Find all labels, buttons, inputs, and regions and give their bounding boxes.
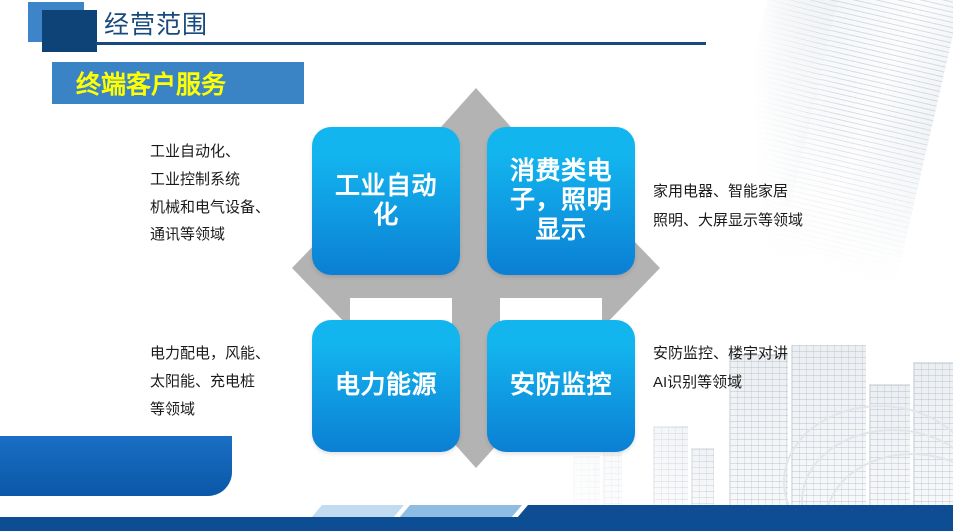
section-banner-label: 终端客户服务 [76, 65, 226, 101]
caption-industrial: 工业自动化、 工业控制系统 机械和电气设备、 通讯等领域 [150, 138, 320, 249]
footer-corner-shape [0, 436, 232, 496]
caption-security: 安防监控、楼宇对讲 AI识别等领域 [653, 340, 873, 397]
quadrant-box-security[interactable]: 安防监控 [487, 320, 635, 452]
quadrant-box-power[interactable]: 电力能源 [312, 320, 460, 452]
footer-bottom-rule [0, 517, 953, 531]
section-banner: 终端客户服务 [52, 62, 304, 104]
quadrant-box-industrial[interactable]: 工业自动 化 [312, 127, 460, 275]
quadrant-box-consumer[interactable]: 消费类电 子，照明 显示 [487, 127, 635, 275]
title-underline-rule [96, 42, 706, 45]
page-title: 经营范围 [104, 5, 208, 41]
slide-canvas: 经营范围 终端客户服务 工业自动 化 消费类电 子，照明 显示 电力能源 安防监… [0, 0, 953, 531]
header-accent-square-front [42, 10, 97, 52]
caption-power: 电力配电，风能、 太阳能、充电桩 等领域 [150, 340, 320, 423]
caption-consumer: 家用电器、智能家居 照明、大屏显示等领域 [653, 178, 873, 235]
skyscraper-background-image [753, 0, 953, 300]
